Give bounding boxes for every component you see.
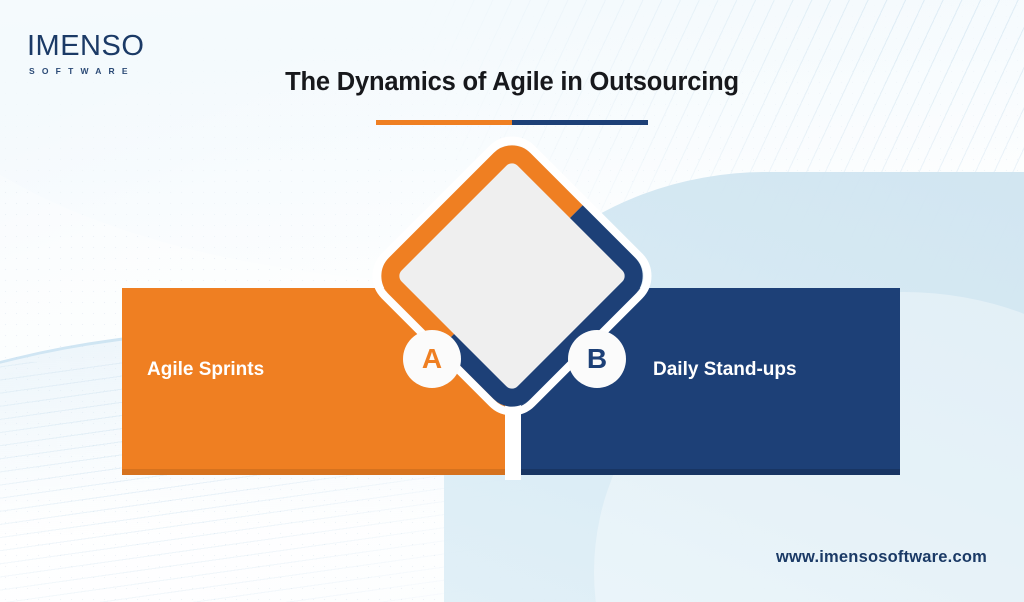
option-a-label: Agile Sprints — [147, 359, 264, 381]
option-b-badge[interactable]: B — [568, 330, 626, 388]
page-title: The Dynamics of Agile in Outsourcing — [0, 68, 1024, 97]
website-url[interactable]: www.imensosoftware.com — [776, 548, 987, 567]
title-divider-orange-segment — [376, 120, 512, 125]
brand-logo-wordmark: IMENSO — [27, 32, 187, 61]
title-divider-navy-segment — [512, 120, 648, 125]
slide-canvas: IMENSO SOFTWARE The Dynamics of Agile in… — [0, 0, 1024, 602]
option-a-badge[interactable]: A — [403, 330, 461, 388]
option-b-label: Daily Stand-ups — [653, 359, 797, 381]
